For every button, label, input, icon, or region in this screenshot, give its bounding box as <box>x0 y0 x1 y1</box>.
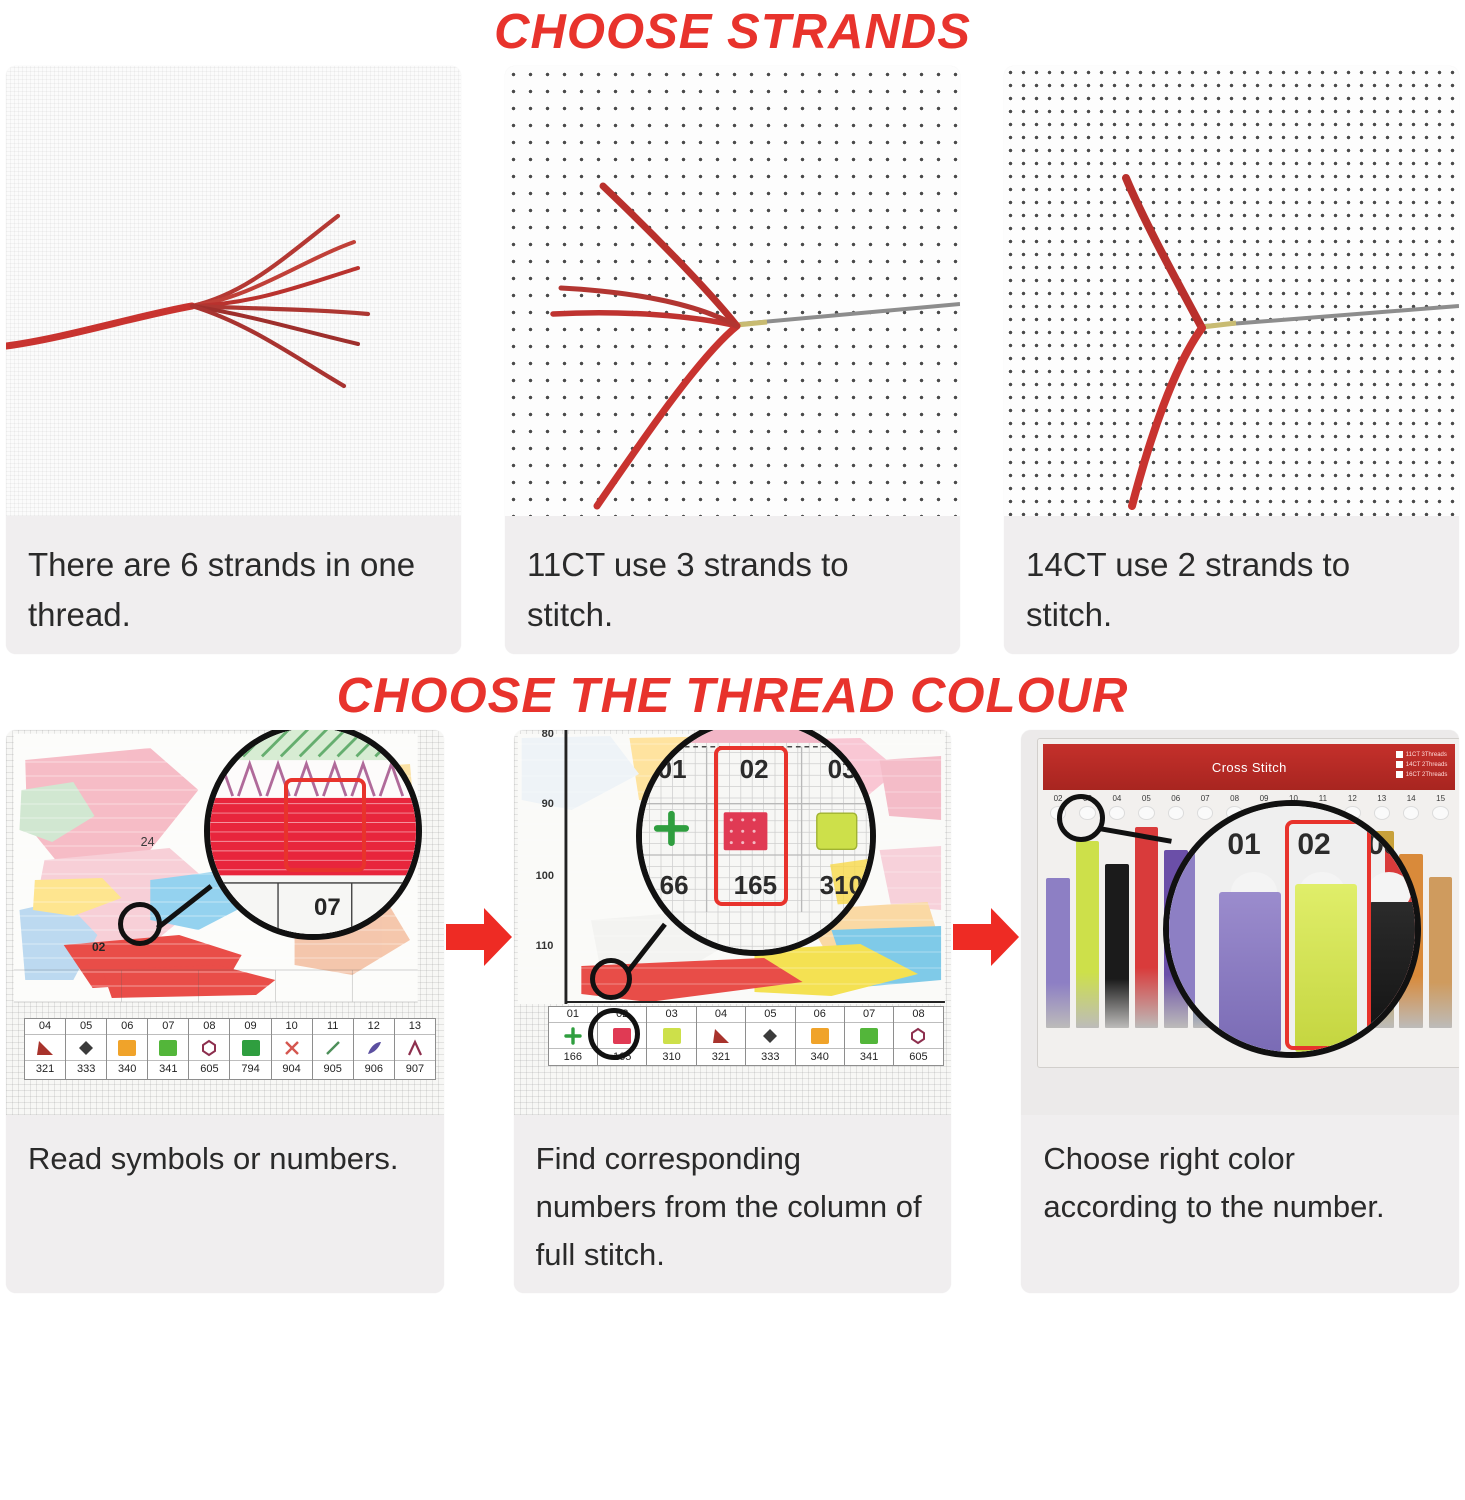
legend-column: 05333 <box>66 1019 107 1079</box>
peg-number-label: 13 <box>1367 794 1396 803</box>
peg-number-label: 08 <box>1220 794 1249 803</box>
thread-skein[interactable] <box>1046 878 1070 1028</box>
caption-11ct-strands: 11CT use 3 strands to stitch. <box>505 516 960 654</box>
legend-symbol-icon <box>25 1035 65 1061</box>
legend-symbol-icon <box>107 1035 147 1061</box>
peg-hole <box>1109 806 1125 820</box>
peg-hole <box>1432 806 1448 820</box>
magnified-skein-01 <box>1219 892 1281 1052</box>
arrow-right-icon-1 <box>444 904 514 970</box>
thread-card-banner: Cross Stitch 11CT 3Threads 14CT 2Threads… <box>1043 744 1455 790</box>
legend-symbol-icon <box>697 1023 745 1049</box>
axis-label-80: 80 <box>542 730 554 740</box>
legend-column-number: 07 <box>845 1007 893 1023</box>
legend-thread-code: 341 <box>148 1061 188 1077</box>
legend-thread-code: 906 <box>354 1061 394 1077</box>
legend-column: 12906 <box>354 1019 395 1079</box>
legend-thread-code: 905 <box>313 1061 353 1077</box>
axis-label-110: 110 <box>536 940 554 952</box>
strands-card-row: There are 6 strands in one thread. 11CT … <box>0 66 1465 654</box>
legend-column: 07341 <box>148 1019 189 1079</box>
magnified-code-66: 66 <box>660 870 689 901</box>
peg-number-label: 04 <box>1102 794 1131 803</box>
legend-symbol-icon <box>66 1035 106 1061</box>
legend-symbol-icon <box>647 1023 695 1049</box>
red-highlight-box-symbols <box>284 778 366 872</box>
legend-thread-code: 340 <box>107 1061 147 1077</box>
legend-symbol-icon <box>395 1035 435 1061</box>
photo-six-strands <box>6 66 461 516</box>
magnifier-target-circle-3 <box>1057 794 1105 842</box>
legend-column-number: 05 <box>746 1007 794 1023</box>
magnifier-circle-threads: 01 02 03 <box>1163 800 1421 1058</box>
photo-pattern-chart-symbols: 24 <box>6 730 444 1115</box>
legend-column-number: 05 <box>66 1019 106 1035</box>
thread-skein[interactable] <box>1135 827 1159 1028</box>
legend-column: 13907 <box>395 1019 435 1079</box>
legend-thread-code: 904 <box>272 1061 312 1077</box>
thread-card-title: Cross Stitch <box>1212 760 1287 775</box>
section-title-choose-strands: CHOOSE STRANDS <box>0 0 1465 66</box>
magnified-cell-number: 07 <box>314 894 341 922</box>
legend-symbol-icon <box>313 1035 353 1061</box>
card-find-numbers: 80 90 100 110 <box>514 730 952 1293</box>
legend-column: 05333 <box>746 1007 795 1065</box>
legend-symbol-icon <box>746 1023 794 1049</box>
section-title-choose-thread-colour: CHOOSE THE THREAD COLOUR <box>0 654 1465 730</box>
legend-symbol-icon <box>148 1035 188 1061</box>
checkbox-14ct[interactable]: 14CT 2Threads <box>1396 761 1448 768</box>
six-strands-thread-illustration <box>6 66 461 516</box>
photo-14ct-strands <box>1004 66 1459 516</box>
legend-column: 08605 <box>894 1007 942 1065</box>
legend-column-number: 04 <box>697 1007 745 1023</box>
card-14ct-strands: 14CT use 2 strands to stitch. <box>1004 66 1459 654</box>
legend-highlight-circle <box>588 1008 640 1060</box>
legend-column-number: 03 <box>647 1007 695 1023</box>
checkbox-box-16ct[interactable] <box>1396 771 1403 778</box>
magnified-column-03: 03 <box>828 754 857 785</box>
legend-column-number: 01 <box>549 1007 597 1023</box>
thread-skein[interactable] <box>1105 864 1129 1028</box>
red-highlight-box-thread <box>1285 820 1371 1050</box>
svg-text:24: 24 <box>141 834 155 849</box>
legend-symbol-icon <box>230 1035 270 1061</box>
legend-thread-code: 310 <box>647 1049 695 1065</box>
peg-number-label: 14 <box>1396 794 1425 803</box>
magnifier-target-circle-2 <box>590 958 632 1000</box>
legend-column-number: 06 <box>107 1019 147 1035</box>
peg-number-label: 12 <box>1338 794 1367 803</box>
legend-column: 08605 <box>189 1019 230 1079</box>
caption-find-numbers: Find corresponding numbers from the colu… <box>514 1115 952 1293</box>
red-highlight-box-numbers <box>714 746 788 906</box>
card-11ct-strands: 11CT use 3 strands to stitch. <box>505 66 960 654</box>
legend-column: 04321 <box>697 1007 746 1065</box>
two-strands-needle-illustration <box>1004 66 1459 516</box>
checkbox-label-11ct: 11CT 3Threads <box>1406 752 1447 758</box>
legend-symbol-icon <box>272 1035 312 1061</box>
magnified-code-310: 310 <box>820 870 863 901</box>
legend-thread-code: 321 <box>25 1061 65 1077</box>
legend-thread-code: 166 <box>549 1049 597 1065</box>
checkbox-16ct[interactable]: 16CT 2Threads <box>1396 771 1448 778</box>
checkbox-box-11ct[interactable] <box>1396 751 1403 758</box>
legend-thread-code: 340 <box>796 1049 844 1065</box>
legend-thread-code: 907 <box>395 1061 435 1077</box>
legend-column-number: 12 <box>354 1019 394 1035</box>
chart-cell-label-02: 02 <box>92 940 105 954</box>
legend-thread-code: 333 <box>66 1061 106 1077</box>
peg-hole <box>1138 806 1154 820</box>
legend-column-number: 10 <box>272 1019 312 1035</box>
legend-column: 06340 <box>107 1019 148 1079</box>
legend-column-number: 08 <box>189 1019 229 1035</box>
checkbox-label-14ct: 14CT 2Threads <box>1406 762 1448 768</box>
legend-symbol-icon <box>796 1023 844 1049</box>
thread-skein[interactable] <box>1429 877 1453 1028</box>
magnified-skein-03 <box>1369 902 1421 1052</box>
legend-column-number: 11 <box>313 1019 353 1035</box>
thread-colour-card-row: 24 <box>0 730 1465 1293</box>
axis-label-100: 100 <box>536 870 554 882</box>
legend-thread-code: 605 <box>189 1061 229 1077</box>
symbol-legend-table: 0432105333063400734108605097941090411905… <box>24 1018 436 1080</box>
caption-six-strands: There are 6 strands in one thread. <box>6 516 461 654</box>
caption-14ct-strands: 14CT use 2 strands to stitch. <box>1004 516 1459 654</box>
photo-thread-organizer-card: Cross Stitch 11CT 3Threads 14CT 2Threads… <box>1021 730 1459 1115</box>
peg-number-label: 15 <box>1426 794 1455 803</box>
caption-choose-color: Choose right color according to the numb… <box>1021 1115 1459 1293</box>
peg-number-label: 06 <box>1161 794 1190 803</box>
checkbox-11ct[interactable]: 11CT 3Threads <box>1396 751 1448 758</box>
magnified-peg-number-03: 03 <box>1367 828 1400 862</box>
legend-column: 06340 <box>796 1007 845 1065</box>
card-read-symbols: 24 <box>6 730 444 1293</box>
three-strands-needle-illustration <box>505 66 960 516</box>
axis-label-90: 90 <box>542 798 554 810</box>
photo-pattern-chart-numbers: 80 90 100 110 <box>514 730 952 1115</box>
legend-symbol-icon <box>894 1023 942 1049</box>
legend-thread-code: 321 <box>697 1049 745 1065</box>
legend-column-number: 06 <box>796 1007 844 1023</box>
legend-column: 03310 <box>647 1007 696 1065</box>
peg-number-label: 05 <box>1132 794 1161 803</box>
card-six-strands: There are 6 strands in one thread. <box>6 66 461 654</box>
magnified-peg-number-01: 01 <box>1227 828 1260 862</box>
arrow-right-icon-2 <box>951 904 1021 970</box>
checkbox-label-16ct: 16CT 2Threads <box>1406 772 1448 778</box>
checkbox-box-14ct[interactable] <box>1396 761 1403 768</box>
thread-skein[interactable] <box>1076 841 1100 1028</box>
legend-thread-code: 794 <box>230 1061 270 1077</box>
legend-column-number: 04 <box>25 1019 65 1035</box>
legend-column: 07341 <box>845 1007 894 1065</box>
legend-column: 11905 <box>313 1019 354 1079</box>
legend-thread-code: 341 <box>845 1049 893 1065</box>
magnified-column-01: 01 <box>658 754 687 785</box>
legend-column: 04321 <box>25 1019 66 1079</box>
thread-card-checkbox-group: 11CT 3Threads 14CT 2Threads 16CT 2Thread… <box>1396 751 1448 778</box>
legend-column-number: 07 <box>148 1019 188 1035</box>
legend-thread-code: 333 <box>746 1049 794 1065</box>
legend-symbol-icon <box>354 1035 394 1061</box>
magnified-left-skein-edge <box>1169 806 1195 1058</box>
legend-column: 09794 <box>230 1019 271 1079</box>
peg-number-label: 07 <box>1190 794 1219 803</box>
legend-column-number: 08 <box>894 1007 942 1023</box>
card-choose-color: Cross Stitch 11CT 3Threads 14CT 2Threads… <box>1021 730 1459 1293</box>
magnifier-circle-symbols: 07 <box>204 730 422 940</box>
caption-read-symbols: Read symbols or numbers. <box>6 1115 444 1293</box>
legend-symbol-icon <box>189 1035 229 1061</box>
legend-column: 10904 <box>272 1019 313 1079</box>
legend-column-number: 09 <box>230 1019 270 1035</box>
legend-symbol-icon <box>845 1023 893 1049</box>
magnifier-target-circle <box>118 902 162 946</box>
legend-thread-code: 605 <box>894 1049 942 1065</box>
legend-column-number: 13 <box>395 1019 435 1035</box>
photo-11ct-strands <box>505 66 960 516</box>
